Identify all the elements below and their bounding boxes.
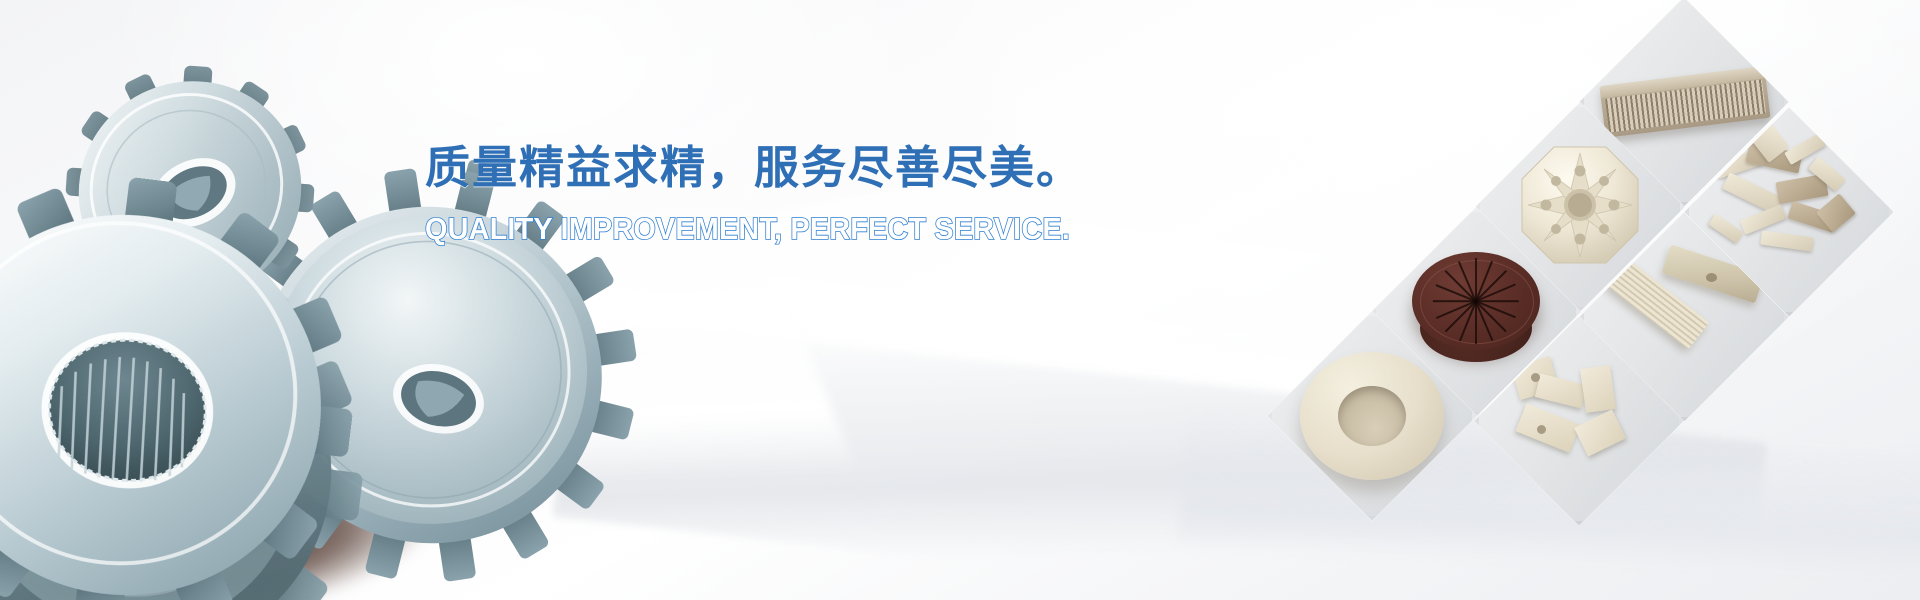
large-front-gear-icon [0, 170, 390, 600]
product-photo-collage [1360, 0, 1920, 600]
banner-subhead: QUALITY IMPROVEMENT, PERFECT SERVICE. [425, 212, 1020, 246]
banner-copy: 质量精益求精，服务尽善尽美。 QUALITY IMPROVEMENT, PERF… [425, 140, 1065, 246]
banner-headline: 质量精益求精，服务尽善尽美。 [425, 140, 1065, 196]
hero-banner: 质量精益求精，服务尽善尽美。 QUALITY IMPROVEMENT, PERF… [0, 0, 1920, 600]
gear-cluster-illustration [0, 40, 570, 600]
